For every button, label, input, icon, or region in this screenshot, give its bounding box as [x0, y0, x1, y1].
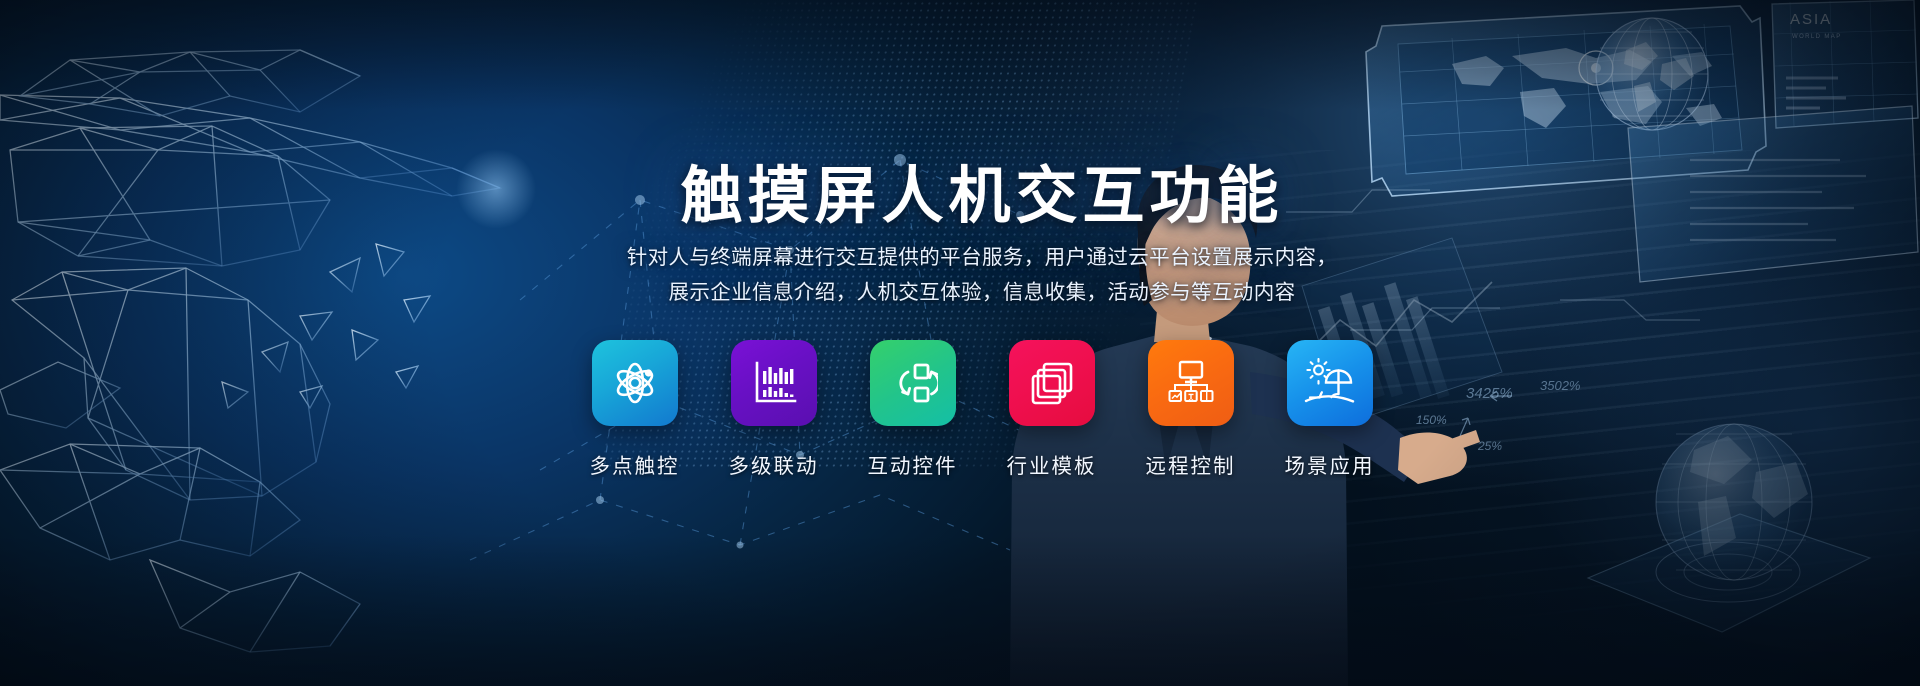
feature-tile-multilevel-linkage[interactable]: [731, 340, 817, 426]
feature-tile-remote-control[interactable]: [1148, 340, 1234, 426]
feature-label-interactive-widgets: 互动控件: [868, 449, 958, 479]
monitor-network-icon: [1166, 358, 1216, 408]
feature-item-multilevel-linkage[interactable]: 多级联动: [731, 340, 817, 479]
feature-list: 多点触控: [0, 340, 1920, 479]
banner-content: 触摸屏人机交互功能 针对人与终端屏幕进行交互提供的平台服务，用户通过云平台设置展…: [0, 0, 1920, 686]
hero-banner: ASIA WORLD MAP: [0, 0, 1920, 686]
feature-tile-multitouch[interactable]: [592, 340, 678, 426]
feature-tile-scene-application[interactable]: [1287, 340, 1373, 426]
beach-scene-icon: [1304, 358, 1356, 408]
atom-icon: [610, 358, 660, 408]
feature-tile-interactive-widgets[interactable]: [870, 340, 956, 426]
bar-chart-icon: [750, 359, 798, 407]
feature-item-interactive-widgets[interactable]: 互动控件: [870, 340, 956, 479]
subtitle-line-2: 展示企业信息介绍，人机交互体验，信息收集，活动参与等互动内容: [44, 275, 1920, 310]
feature-item-industry-templates[interactable]: 行业模板: [1009, 340, 1095, 479]
feature-item-multitouch[interactable]: 多点触控: [592, 340, 678, 479]
feature-tile-industry-templates[interactable]: [1009, 340, 1095, 426]
feature-label-multitouch: 多点触控: [590, 449, 680, 479]
feature-item-scene-application[interactable]: 场景应用: [1287, 340, 1373, 479]
page-title: 触摸屏人机交互功能: [0, 145, 1920, 235]
feature-label-industry-templates: 行业模板: [1007, 449, 1097, 479]
banner-subtitle: 针对人与终端屏幕进行交互提供的平台服务，用户通过云平台设置展示内容， 展示企业信…: [0, 240, 1920, 310]
feature-label-remote-control: 远程控制: [1146, 449, 1236, 479]
subtitle-line-1: 针对人与终端屏幕进行交互提供的平台服务，用户通过云平台设置展示内容，: [44, 240, 1920, 275]
feature-item-remote-control[interactable]: 远程控制: [1148, 340, 1234, 479]
feature-label-multilevel-linkage: 多级联动: [729, 449, 819, 479]
sync-widgets-icon: [888, 358, 938, 408]
layers-stack-icon: [1028, 359, 1076, 407]
feature-label-scene-application: 场景应用: [1285, 449, 1375, 479]
